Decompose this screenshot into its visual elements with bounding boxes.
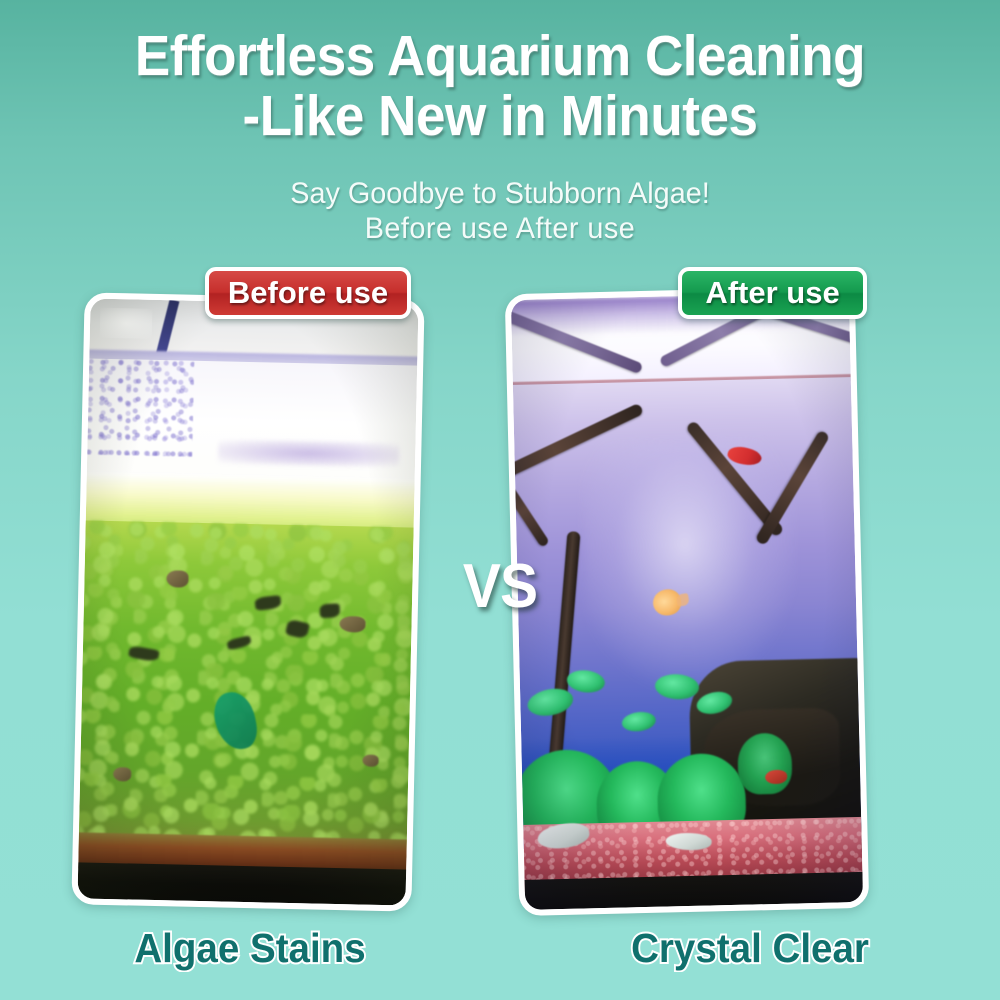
after-use-badge[interactable]: After use — [678, 267, 867, 319]
page-subtitle: Say Goodbye to Stubborn Algae! Before us… — [20, 176, 980, 246]
headline-line-1: Effortless Aquarium Cleaning — [135, 24, 865, 88]
vs-label: VS — [40, 556, 960, 618]
subtitle-line-1: Say Goodbye to Stubborn Algae! — [290, 177, 710, 210]
before-caption: Algae Stains — [15, 922, 485, 974]
page-headline: Effortless Aquarium Cleaning -Like New i… — [35, 26, 965, 146]
headline-line-2: -Like New in Minutes — [35, 86, 965, 146]
subtitle-line-2: Before use After use — [20, 211, 980, 246]
before-use-badge[interactable]: Before use — [205, 267, 411, 319]
after-caption: Crystal Clear — [515, 922, 985, 974]
